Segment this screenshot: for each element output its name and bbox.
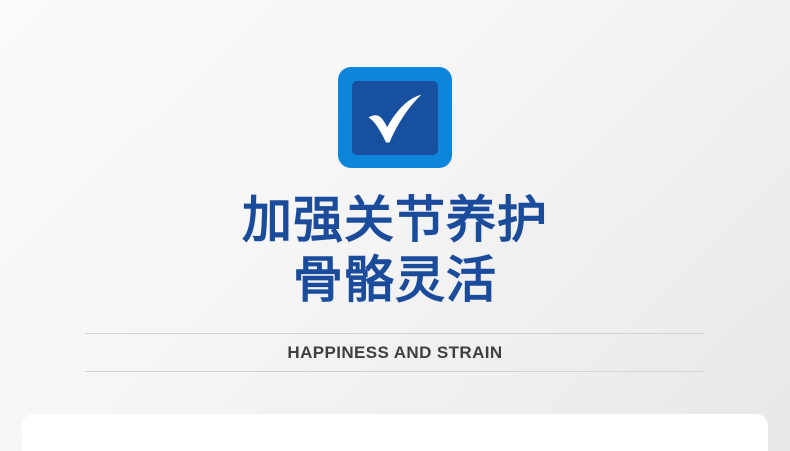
headline-line-1: 加强关节养护 (0, 190, 790, 250)
badge-container (0, 67, 790, 168)
subtitle-block: HAPPINESS AND STRAIN (85, 333, 705, 372)
subtitle-text: HAPPINESS AND STRAIN (85, 333, 705, 372)
divider-bottom (85, 371, 705, 372)
check-mark-icon (364, 90, 426, 146)
check-badge-inner (352, 81, 438, 155)
headline-line-2: 骨骼灵活 (0, 250, 790, 310)
headline: 加强关节养护 骨骼灵活 (0, 190, 790, 310)
check-badge (338, 67, 452, 168)
promo-banner: 加强关节养护 骨骼灵活 HAPPINESS AND STRAIN (0, 0, 790, 451)
content-card (22, 414, 768, 451)
